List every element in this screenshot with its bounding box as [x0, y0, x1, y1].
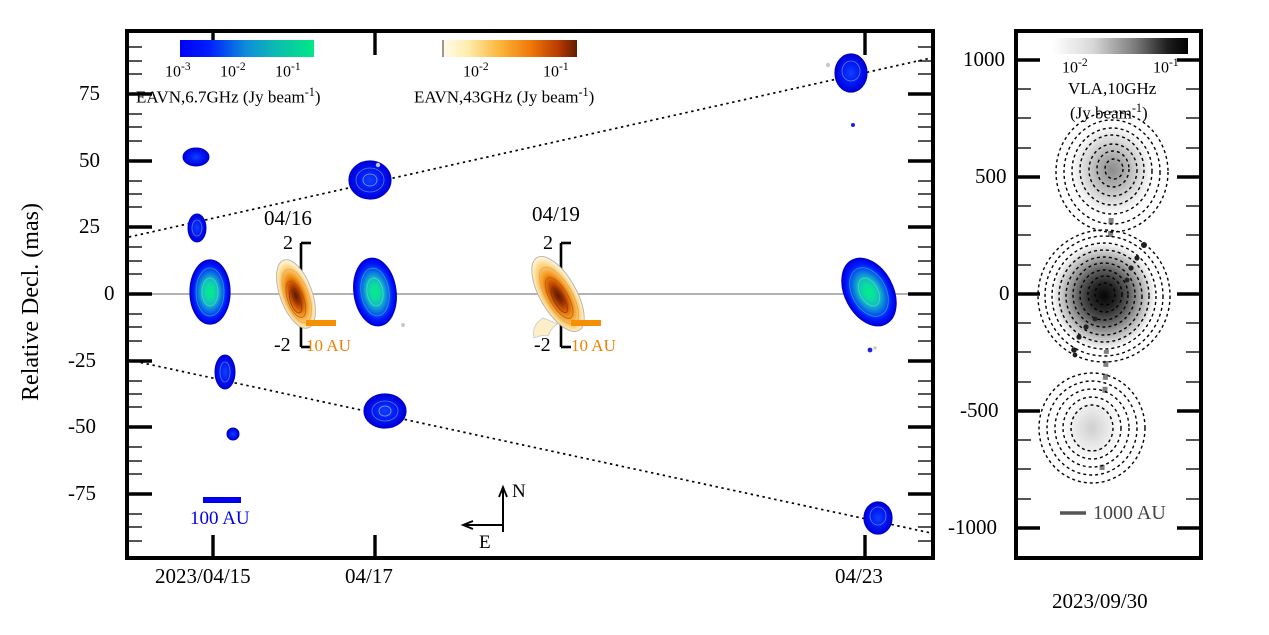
inset-0416-tick-bottom: -2 [274, 335, 291, 355]
maser-blob [364, 394, 406, 428]
vla-colorbar-tick: 10-1 [1153, 58, 1179, 76]
main-y-tick-label: 0 [104, 283, 115, 304]
compass-north-label: N [512, 482, 526, 501]
main-x-tick-label: 04/23 [835, 566, 883, 587]
inset-scale-bar-0416 [306, 320, 336, 326]
colorbar-67-tick: 10-2 [220, 62, 246, 80]
main-y-tick-label: 75 [79, 83, 100, 104]
main-x-tick-label: 04/17 [345, 566, 393, 587]
main-y-tick-label: -25 [68, 350, 96, 371]
colorbar-67-caption: EAVN,6.7GHz (Jy beam-1) [136, 86, 321, 106]
colorbar-eavn-43 [443, 40, 577, 57]
vla-scale-bar-label: 1000 AU [1093, 503, 1166, 523]
vla-y-tick-label: -500 [960, 400, 999, 421]
maser-blob [227, 428, 239, 440]
main-y-tick-label: -75 [68, 483, 96, 504]
maser-blob [188, 214, 206, 242]
inset-0416-scale-label: 10 AU [306, 337, 351, 354]
maser-blob [183, 148, 209, 166]
inset-0419-tick-top: 2 [543, 233, 553, 253]
inset-0419-scale-label: 10 AU [571, 337, 616, 354]
main-x-tick-label: 2023/04/15 [155, 566, 251, 587]
vla-y-tick-label: 1000 [963, 49, 1005, 70]
colorbar-67-tick: 10-1 [275, 62, 301, 80]
inset-0416-tick-top: 2 [283, 233, 293, 253]
colorbar-67-tick: 10-3 [165, 62, 191, 80]
colorbar-43-tick: 10-1 [543, 62, 569, 80]
inset-0419-tick-bottom: -2 [534, 335, 551, 355]
maser-speck [851, 123, 855, 127]
main-y-tick-label: -50 [68, 416, 96, 437]
figure-root: 75 50 25 0 -25 -50 -75 Relative Decl. (m… [0, 0, 1269, 635]
inset-title-0416: 04/16 [264, 208, 312, 229]
colorbar-43-tick: 10-2 [463, 62, 489, 80]
main-scale-bar [203, 497, 241, 503]
maser-blob [864, 502, 892, 534]
colorbar-eavn-67 [180, 40, 314, 57]
main-y-tick-label: 50 [79, 150, 100, 171]
compass-east-label: E [479, 533, 491, 552]
maser-speck [868, 348, 873, 353]
vla-colorbar-caption-line1: VLA,10GHz [1068, 80, 1156, 97]
main-y-tick-label: 25 [79, 216, 100, 237]
inset-title-0419: 04/19 [532, 204, 580, 225]
main-scale-bar-label: 100 AU [190, 509, 250, 528]
maser-blob [835, 54, 867, 92]
main-y-axis-title: Relative Decl. (mas) [19, 177, 43, 427]
inset-scale-bar-0419 [571, 320, 601, 326]
colorbar-vla-10ghz [1052, 38, 1188, 54]
vla-colorbar-caption-line2: (Jy beam-1) [1070, 102, 1148, 122]
vla-y-tick-label: -1000 [948, 517, 997, 538]
vla-y-tick-label: 500 [975, 166, 1007, 187]
maser-blob [349, 161, 391, 199]
vla-y-tick-label: 0 [999, 283, 1010, 304]
maser-blob [190, 260, 230, 324]
maser-blob [215, 355, 235, 389]
colorbar-43-caption: EAVN,43GHz (Jy beam-1) [414, 86, 594, 106]
vla-date-label: 2023/09/30 [1052, 591, 1148, 612]
vla-colorbar-tick: 10-2 [1062, 58, 1088, 76]
